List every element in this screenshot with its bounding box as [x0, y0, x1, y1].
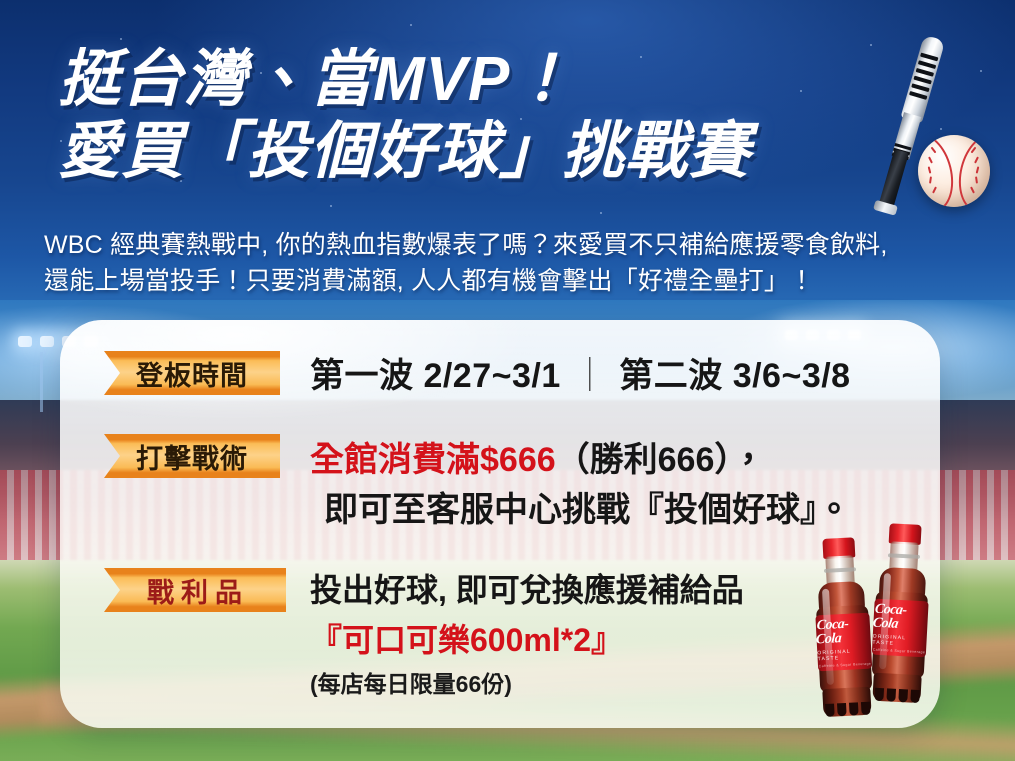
poster-headline: 挺台灣、當MVP！ 愛買「投個好球」挑戰賽 [58, 46, 898, 186]
ribbon-label-schedule: 登板時間 [104, 351, 280, 395]
prize-line-1: 投出好球, 即可兌換應援補給品 [310, 565, 744, 611]
prize-product-name: 『可口可樂600ml*2』 [310, 615, 623, 661]
floodlight-pole-left [40, 352, 43, 412]
poster-subcopy: WBC 經典賽熱戰中, 你的熱血指數爆表了嗎？來愛買不只補給應援零食飲料, 還能… [44, 228, 994, 299]
ribbon-label-prize: 戰利品 [104, 568, 286, 612]
coca-cola-bottles-image: Coca-Cola ORIGINAL TASTE Caffeine & Suga… [808, 520, 958, 710]
schedule-row-text: 第一波 2/27~3/1｜第二波 3/6~3/8 [310, 348, 851, 397]
ribbon-label-tactics: 打擊戰術 [104, 434, 280, 478]
subcopy-line-1: WBC 經典賽熱戰中, 你的熱血指數爆表了嗎？來愛買不只補給應援零食飲料, [44, 228, 994, 264]
schedule-divider: ｜ [573, 357, 608, 395]
headline-line-2: 愛買「投個好球」挑戰賽 [58, 118, 898, 186]
tactics-line-1: 全館消費滿$666（勝利666）， [310, 432, 765, 481]
baseball-icon [918, 135, 990, 207]
subcopy-line-2: 還能上場當投手！只要消費滿額, 人人都有機會擊出「好禮全壘打」！ [44, 264, 994, 300]
prize-limit-note: (每店每日限量66份) [310, 665, 512, 699]
tactics-line-2: 即可至客服中心挑戰『投個好球』。 [324, 482, 851, 531]
promo-poster: 挺台灣、當MVP！ 愛買「投個好球」挑戰賽 WBC 經典賽熱戰中, 你的熱血指數… [0, 0, 1015, 761]
tactics-line-1-rest: （勝利666）， [556, 441, 766, 479]
tactics-spend-threshold: 全館消費滿$666 [310, 441, 556, 479]
schedule-wave-2: 第二波 3/6~3/8 [619, 357, 850, 395]
schedule-wave-1: 第一波 2/27~3/1 [310, 357, 561, 395]
coke-bottle-right: Coca-Cola ORIGINAL TASTE Caffeine & Suga… [865, 522, 936, 703]
headline-line-1: 挺台灣、當MVP！ [58, 45, 573, 114]
